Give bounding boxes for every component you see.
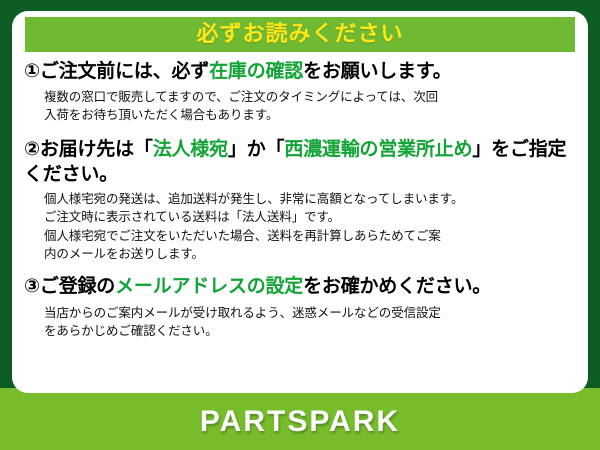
footer: PARTSPARK [0,393,600,450]
notice-item-2-subtext: 個人様宅宛の発送は、追加送料が発生し、非常に高額となってしまいます。 ご注文時に… [44,190,578,263]
page-title: 必ずお読みください [196,24,403,46]
notice-item-1-head-part-0: ご注文前には、必ず [40,60,209,82]
notice-item-1-head-part-2: をお願いします。 [303,60,452,82]
notice-item-2-heading: ②お届け先は「法人様宛」か「西濃運輸の営業所止め」をご指定ください。 [24,137,578,186]
notice-item-1-marker: ① [24,60,40,82]
notice-item-2-subline-3: 内のメールをお送りします。 [44,245,578,263]
notice-item-1-subtext: 複数の窓口で販売してますので、ご注文のタイミングによっては、次回 入荷をお待ち頂… [44,88,578,124]
notice-item-2-subline-2: 個人様宅宛でご注文をいただいた場合、送料を再計算しあらためてご案 [44,227,578,245]
title-bar: 必ずお読みください [25,17,575,52]
notice-item-3-heading: ③ご登録のメールアドレスの設定をお確かめください。 [24,274,578,299]
notice-item-3-subtext: 当店からのご案内メールが受け取れるよう、迷惑メールなどの受信設定 をあらかじめご… [44,304,578,340]
notice-item-1-subline-0: 複数の窓口で販売してますので、ご注文のタイミングによっては、次回 [44,88,578,106]
notice-item-2-subline-1: ご注文時に表示されている送料は「法人送料」です。 [44,208,578,226]
white-content-panel: 必ずお読みください ①ご注文前には、必ず在庫の確認をお願いします。 複数の窓口で… [12,11,588,393]
notice-item-3-subline-0: 当店からのご案内メールが受け取れるよう、迷惑メールなどの受信設定 [44,304,578,322]
notice-banner: 必ずお読みください ①ご注文前には、必ず在庫の確認をお願いします。 複数の窓口で… [0,0,600,450]
notice-item-2-head-part-0: お届け先は「 [40,138,153,160]
notice-item-1-head-part-1: 在庫の確認 [209,60,303,82]
notice-item-3: ③ご登録のメールアドレスの設定をお確かめください。 当店からのご案内メールが受け… [24,274,578,340]
notice-item-1: ①ご注文前には、必ず在庫の確認をお願いします。 複数の窓口で販売してますので、ご… [24,59,578,124]
notice-item-1-heading: ①ご注文前には、必ず在庫の確認をお願いします。 [24,59,578,84]
brand-logo: PARTSPARK [200,405,400,439]
notice-item-3-head-part-2: をお確かめください。 [303,275,491,297]
notice-item-3-marker: ③ [24,275,40,297]
notice-item-2: ②お届け先は「法人様宛」か「西濃運輸の営業所止め」をご指定ください。 個人様宅宛… [24,137,578,263]
notice-item-3-head-part-0: ご登録の [40,275,115,297]
notice-item-2-head-part-4: 」 [472,138,491,160]
notice-item-3-head-part-1: メールアドレスの設定 [115,275,303,297]
notice-item-2-subline-0: 個人様宅宛の発送は、追加送料が発生し、非常に高額となってしまいます。 [44,190,578,208]
notice-item-2-marker: ② [24,138,40,160]
notice-list: ①ご注文前には、必ず在庫の確認をお願いします。 複数の窓口で販売してますので、ご… [12,59,588,342]
notice-item-2-head-part-2: 」か「 [228,138,284,160]
notice-item-2-head-part-3: 西濃運輸の営業所止め [284,138,472,160]
notice-item-2-head-part-1: 法人様宛 [153,138,228,160]
notice-item-3-subline-1: をあらかじめご確認ください。 [44,322,578,340]
notice-item-1-subline-1: 入荷をお待ち頂いただく場合もあります。 [44,106,578,124]
